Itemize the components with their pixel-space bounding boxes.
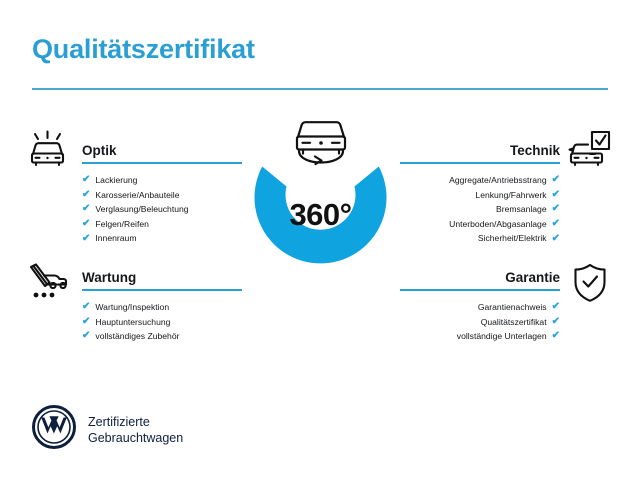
check-icon: ✔	[552, 302, 560, 312]
certificate-page: Qualitätszertifikat	[0, 0, 640, 480]
list-item-label: Qualitätszertifikat	[481, 315, 547, 330]
section-heading-optik: Optik	[82, 143, 242, 159]
section-garantie: Garantie Garantienachweis✔ Qualitätszert…	[400, 270, 560, 344]
list-item-label: Verglasung/Beleuchtung	[95, 202, 188, 217]
page-title: Qualitätszertifikat	[32, 34, 255, 65]
list-item: vollständige Unterlagen✔	[400, 329, 560, 344]
list-item: ✔Felgen/Reifen	[82, 217, 242, 232]
list-item: Garantienachweis✔	[400, 300, 560, 315]
list-item-label: Lenkung/Fahrwerk	[475, 188, 546, 203]
section-optik: Optik ✔Lackierung ✔Karosserie/Anbauteile…	[82, 143, 242, 246]
list-item: ✔Karosserie/Anbauteile	[82, 188, 242, 203]
section-divider-garantie	[400, 289, 560, 291]
check-icon: ✔	[82, 302, 90, 312]
list-item-label: Unterboden/Abgasanlage	[449, 217, 546, 232]
car-shine-icon	[26, 130, 70, 175]
section-list-optik: ✔Lackierung ✔Karosserie/Anbauteile ✔Verg…	[82, 173, 242, 246]
list-item: Qualitätszertifikat✔	[400, 315, 560, 330]
section-heading-garantie: Garantie	[400, 270, 560, 286]
section-divider-technik	[400, 162, 560, 164]
check-icon: ✔	[552, 175, 560, 185]
list-item: ✔Innenraum	[82, 231, 242, 246]
list-item-label: Hauptuntersuchung	[95, 315, 170, 330]
list-item-label: Felgen/Reifen	[95, 217, 149, 232]
check-icon: ✔	[82, 219, 90, 229]
check-icon: ✔	[552, 204, 560, 214]
badge-360-gebrauchtwagen-check: Gebrauchtwagen-Check 360°	[228, 122, 413, 307]
list-item-label: vollständiges Zubehör	[95, 329, 179, 344]
check-icon: ✔	[82, 317, 90, 327]
check-icon: ✔	[82, 204, 90, 214]
check-icon: ✔	[82, 175, 90, 185]
section-divider-wartung	[82, 289, 242, 291]
section-list-wartung: ✔Wartung/Inspektion ✔Hauptuntersuchung ✔…	[82, 300, 242, 344]
check-icon: ✔	[552, 219, 560, 229]
section-technik: Technik Aggregate/Antriebsstrang✔ Lenkun…	[400, 143, 560, 246]
list-item: ✔Verglasung/Beleuchtung	[82, 202, 242, 217]
list-item-label: Garantienachweis	[478, 300, 547, 315]
list-item-label: Innenraum	[95, 231, 136, 246]
section-heading-technik: Technik	[400, 143, 560, 159]
car-checkbox-icon	[566, 130, 612, 175]
check-icon: ✔	[552, 331, 560, 341]
list-item-label: Lackierung	[95, 173, 137, 188]
footer-text: Zertifizierte Gebrauchtwagen	[88, 414, 183, 446]
list-item: ✔vollständiges Zubehör	[82, 329, 242, 344]
list-item: Sicherheit/Elektrik✔	[400, 231, 560, 246]
list-item-label: vollständige Unterlagen	[457, 329, 547, 344]
list-item: Lenkung/Fahrwerk✔	[400, 188, 560, 203]
list-item: ✔Wartung/Inspektion	[82, 300, 242, 315]
list-item-label: Aggregate/Antriebsstrang	[449, 173, 546, 188]
section-list-technik: Aggregate/Antriebsstrang✔ Lenkung/Fahrwe…	[400, 173, 560, 246]
wrench-car-icon	[22, 262, 70, 309]
shield-check-icon	[570, 262, 610, 309]
header-divider	[32, 88, 608, 90]
list-item: Aggregate/Antriebsstrang✔	[400, 173, 560, 188]
list-item-label: Bremsanlage	[496, 202, 547, 217]
list-item: Unterboden/Abgasanlage✔	[400, 217, 560, 232]
check-icon: ✔	[82, 234, 90, 244]
section-wartung: Wartung ✔Wartung/Inspektion ✔Hauptunters…	[82, 270, 242, 344]
section-divider-optik	[82, 162, 242, 164]
list-item-label: Sicherheit/Elektrik	[478, 231, 547, 246]
list-item-label: Wartung/Inspektion	[95, 300, 169, 315]
vw-logo	[32, 405, 76, 454]
list-item: ✔Lackierung	[82, 173, 242, 188]
section-heading-wartung: Wartung	[82, 270, 242, 286]
check-icon: ✔	[82, 190, 90, 200]
check-icon: ✔	[552, 190, 560, 200]
section-list-garantie: Garantienachweis✔ Qualitätszertifikat✔ v…	[400, 300, 560, 344]
list-item-label: Karosserie/Anbauteile	[95, 188, 179, 203]
check-icon: ✔	[82, 331, 90, 341]
car-front-rotate-icon	[285, 110, 357, 177]
list-item: Bremsanlage✔	[400, 202, 560, 217]
check-icon: ✔	[552, 234, 560, 244]
list-item: ✔Hauptuntersuchung	[82, 315, 242, 330]
footer-branding: Zertifizierte Gebrauchtwagen	[32, 405, 183, 454]
check-icon: ✔	[552, 317, 560, 327]
